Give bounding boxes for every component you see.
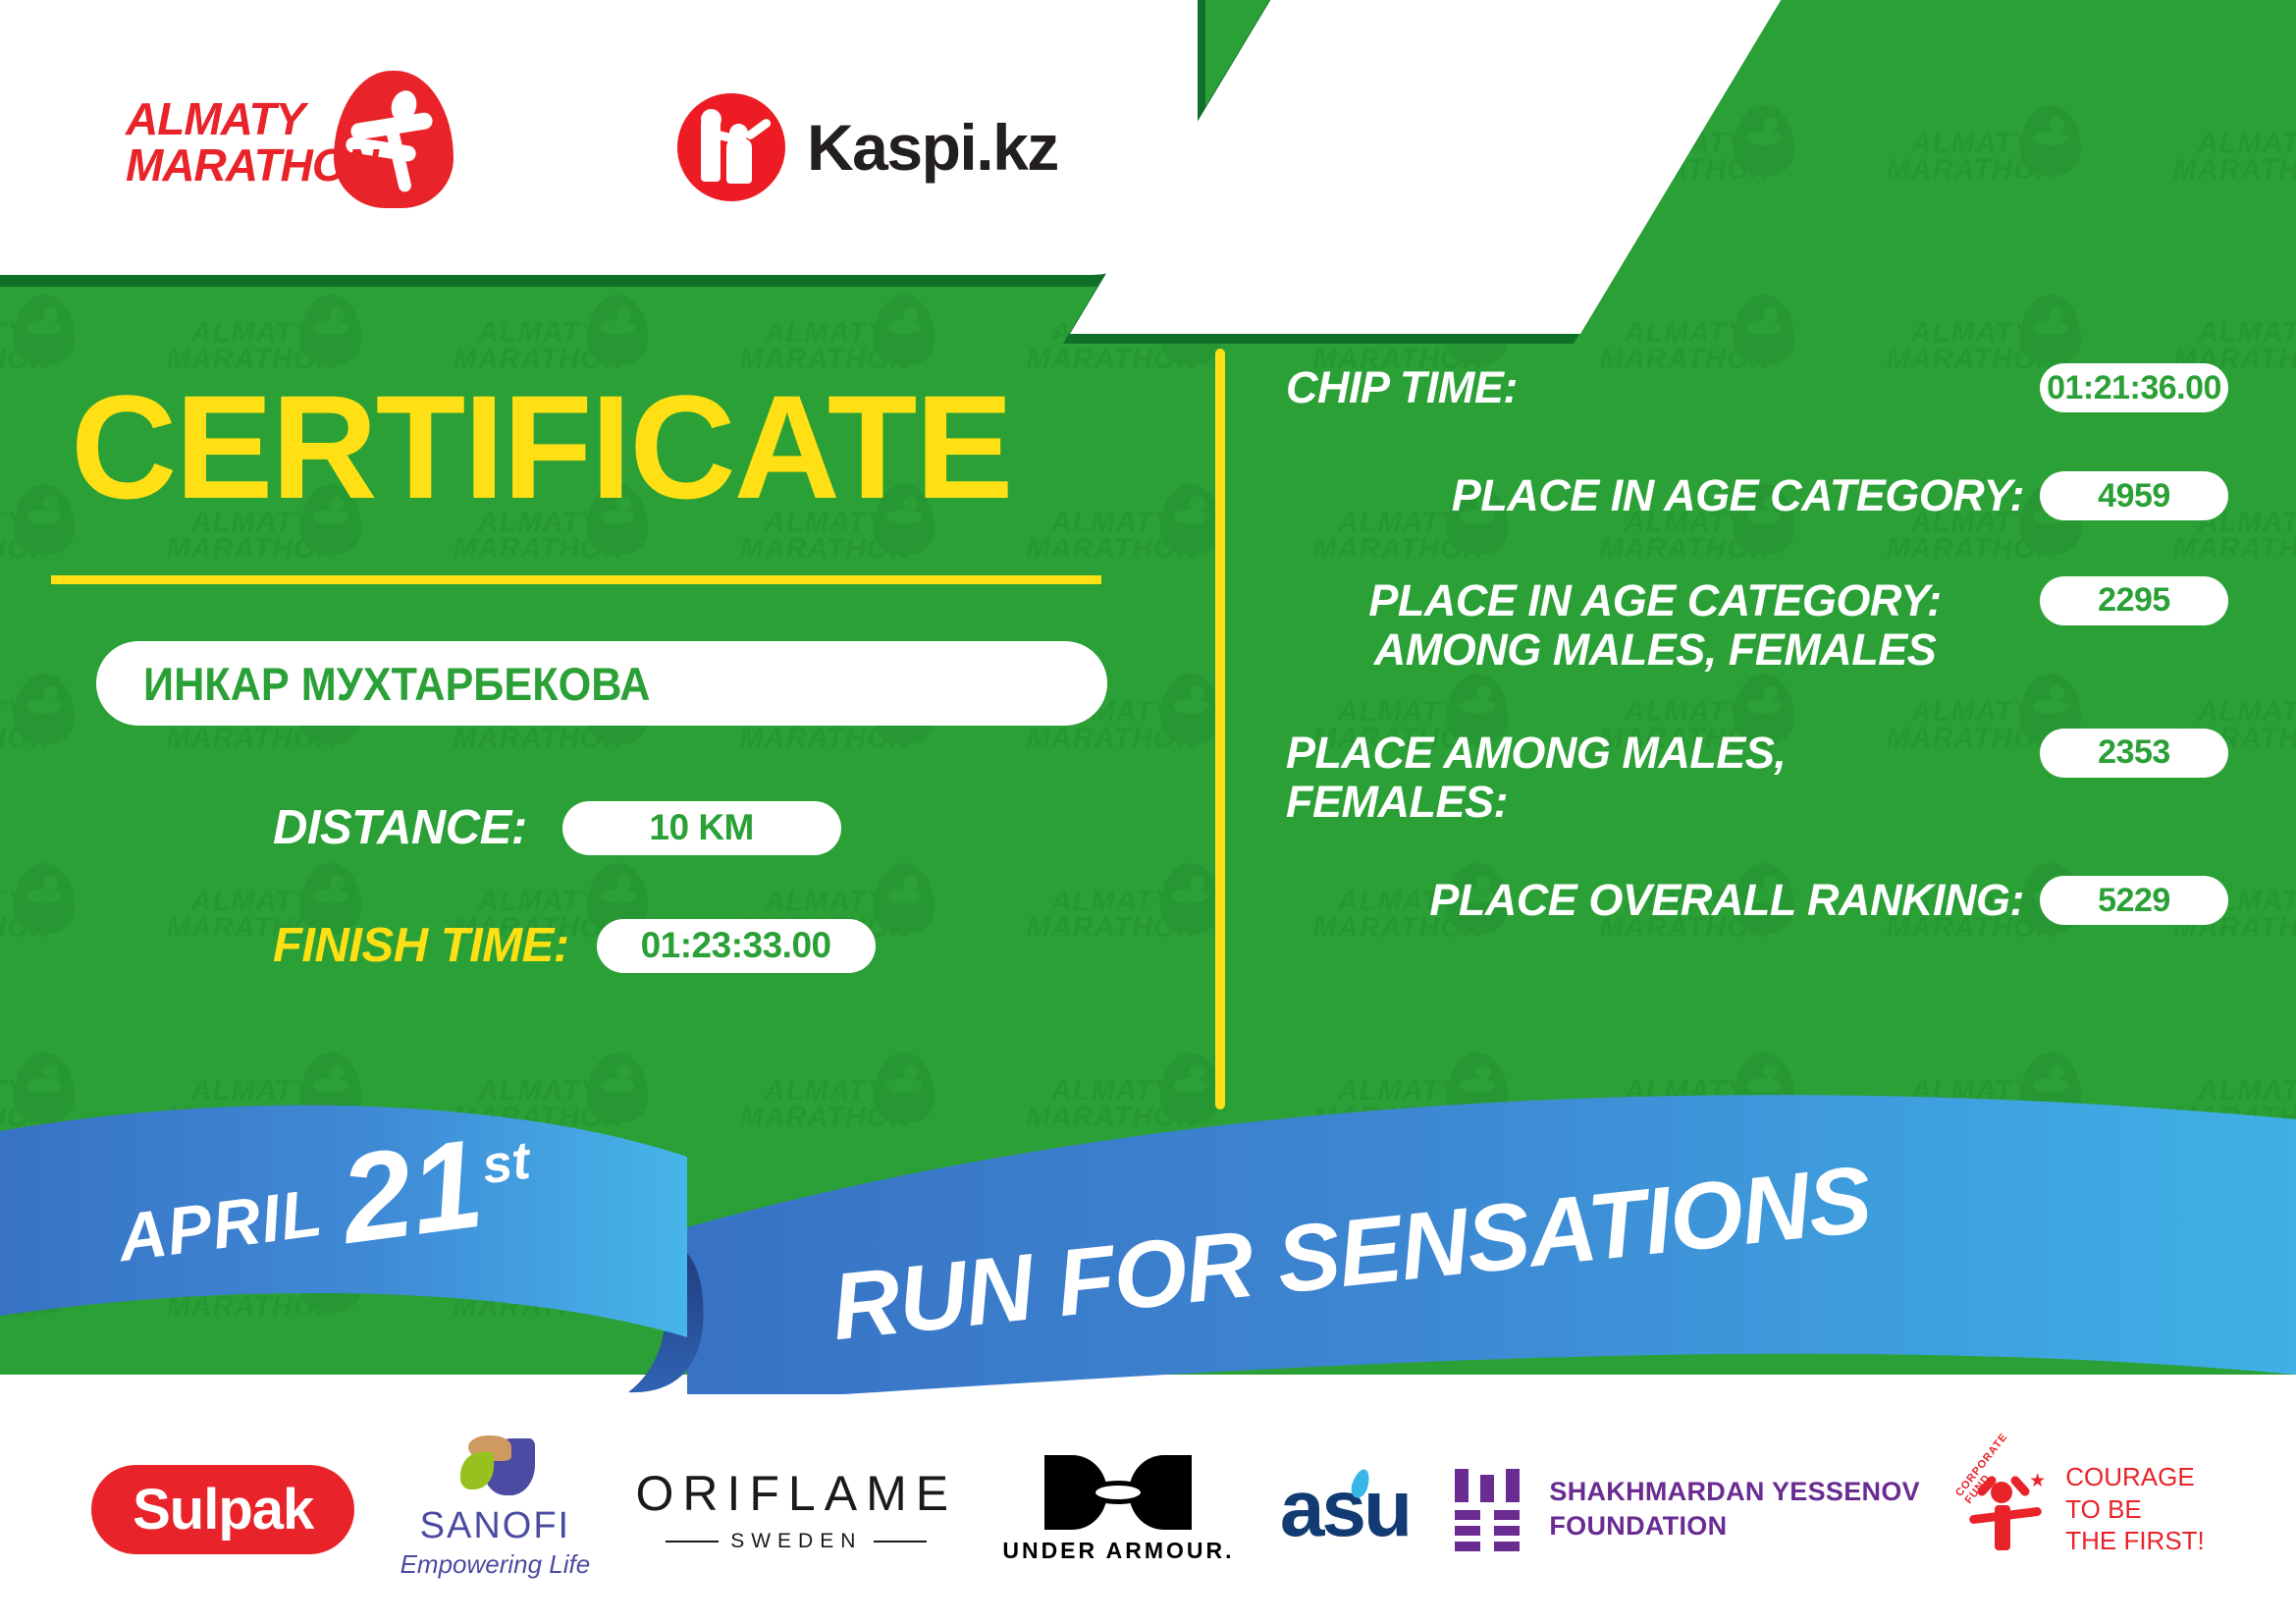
- sanofi-logo: SANOFI Empowering Life: [400, 1438, 591, 1580]
- place-among-gender-label: PLACE AMONG MALES, FEMALES:: [1286, 729, 2024, 828]
- finish-time-value: 01:23:33.00: [597, 919, 876, 973]
- oriflame-name: ORIFLAME: [635, 1465, 957, 1522]
- event-day-suffix: st: [479, 1130, 534, 1197]
- courage-line-2: TO BE: [2065, 1493, 2205, 1526]
- sanofi-tagline: Empowering Life: [400, 1549, 591, 1580]
- label-line-2: FEMALES:: [1286, 778, 2024, 827]
- courage-line-1: COURAGE: [2065, 1461, 2205, 1493]
- sponsor-yessenov-foundation: SHAKHMARDAN YESSENOV FOUNDATION: [1455, 1469, 1920, 1549]
- sanofi-name: SANOFI: [400, 1505, 591, 1547]
- place-age-category-label: PLACE IN AGE CATEGORY:: [1286, 471, 2024, 520]
- sponsor-asu: asu: [1280, 1463, 1410, 1555]
- event-month: APRIL: [114, 1174, 327, 1277]
- watermark-tile: ALMATYMARATHON: [0, 510, 69, 562]
- courage-text: COURAGE TO BE THE FIRST!: [2065, 1461, 2205, 1557]
- watermark-tile: ALMATYMARATHON: [0, 699, 69, 751]
- oriflame-sub: SWEDEN: [730, 1530, 862, 1553]
- courage-child-icon: CORPORATE FUND ★: [1965, 1462, 2050, 1556]
- watermark-tile: ALMATYMARATHON: [1009, 510, 1215, 562]
- distance-value: 10 KM: [562, 801, 841, 855]
- result-row: PLACE IN AGE CATEGORY: 4959: [1286, 471, 2228, 520]
- under-armour-logo: UNDER ARMOUR.: [1002, 1455, 1234, 1564]
- distance-label: DISTANCE:: [273, 800, 527, 855]
- label-line-1: PLACE AMONG MALES,: [1286, 729, 2024, 778]
- watermark-tile: ALMATYMARATHON: [1869, 131, 2075, 183]
- distance-row: DISTANCE: 10 KM: [273, 800, 841, 855]
- sponsor-under-armour: UNDER ARMOUR.: [1002, 1455, 1234, 1564]
- watermark-tile: ALMATYMARATHON: [1009, 889, 1215, 941]
- yessenov-bars-icon: [1455, 1469, 1525, 1549]
- marathon-line: MARATHON: [126, 142, 378, 189]
- courage-line-3: THE FIRST!: [2065, 1525, 2205, 1557]
- label-line-1: PLACE IN AGE CATEGORY:: [1286, 576, 2024, 625]
- star-icon: ★: [2029, 1470, 2046, 1492]
- place-overall-label: PLACE OVERALL RANKING:: [1286, 876, 2024, 925]
- asu-name: asu: [1280, 1464, 1410, 1553]
- watermark-tile: ALMATYMARATHON: [2156, 131, 2296, 183]
- finish-time-row: FINISH TIME: 01:23:33.00: [273, 918, 876, 973]
- kaspi-people-icon: [677, 93, 785, 201]
- oriflame-subline: SWEDEN: [635, 1530, 957, 1553]
- column-divider: [1215, 349, 1225, 1110]
- sulpak-logo: Sulpak: [91, 1465, 354, 1554]
- kaspi-logo: Kaspi.kz: [677, 93, 1058, 201]
- yessenov-name: SHAKHMARDAN YESSENOV FOUNDATION: [1549, 1475, 1920, 1543]
- sponsor-oriflame: ORIFLAME SWEDEN: [635, 1465, 957, 1553]
- sponsor-bar: Sulpak SANOFI Empowering Life ORIFLAME S…: [0, 1394, 2296, 1624]
- event-day: 21: [336, 1130, 488, 1254]
- watermark-tile: ALMATYMARATHON: [0, 889, 69, 941]
- finish-time-label: FINISH TIME:: [273, 918, 569, 973]
- rule-left: [666, 1541, 719, 1543]
- chip-time-value: 01:21:36.00: [2040, 363, 2228, 412]
- asu-logo: asu: [1280, 1463, 1410, 1555]
- result-row: PLACE OVERALL RANKING: 5229: [1286, 876, 2228, 925]
- yessenov-logo: SHAKHMARDAN YESSENOV FOUNDATION: [1455, 1469, 1920, 1549]
- label-line-2: AMONG MALES, FEMALES: [1286, 625, 2024, 675]
- result-row: PLACE IN AGE CATEGORY: AMONG MALES, FEMA…: [1286, 576, 2228, 676]
- courage-logo: CORPORATE FUND ★ COURAGE TO BE THE FIRST…: [1965, 1461, 2205, 1557]
- oriflame-logo: ORIFLAME SWEDEN: [635, 1465, 957, 1553]
- result-row: PLACE AMONG MALES, FEMALES: 2353: [1286, 729, 2228, 828]
- place-overall-value: 5229: [2040, 876, 2228, 925]
- certificate-page: ALMATYMARATHONALMATYMARATHONALMATYMARATH…: [0, 0, 2296, 1624]
- results-list: CHIP TIME: 01:21:36.00 PLACE IN AGE CATE…: [1286, 363, 2228, 971]
- title-divider: [51, 575, 1101, 584]
- under-armour-name: UNDER ARMOUR.: [1002, 1538, 1234, 1564]
- yessenov-line-1: SHAKHMARDAN YESSENOV: [1549, 1475, 1920, 1509]
- sanofi-mark-icon: [449, 1438, 541, 1499]
- sponsor-sanofi: SANOFI Empowering Life: [400, 1438, 591, 1580]
- almaty-marathon-logo-text: ALMATY MARATHON: [126, 96, 378, 189]
- chip-time-label: CHIP TIME:: [1286, 363, 2024, 412]
- place-age-category-gender-label: PLACE IN AGE CATEGORY: AMONG MALES, FEMA…: [1286, 576, 2024, 676]
- place-age-category-value: 4959: [2040, 471, 2228, 520]
- watermark-tile: ALMATYMARATHON: [0, 320, 69, 372]
- participant-name-value: ИНКАР МУХТАРБЕКОВА: [143, 657, 651, 711]
- yessenov-line-2: FOUNDATION: [1549, 1509, 1920, 1543]
- almaty-marathon-logo: ALMATY MARATHON: [126, 59, 450, 226]
- sponsor-courage-to-be-the-first: CORPORATE FUND ★ COURAGE TO BE THE FIRST…: [1965, 1461, 2205, 1557]
- place-age-category-gender-value: 2295: [2040, 576, 2228, 625]
- almaty-line: ALMATY: [126, 96, 378, 142]
- kaspi-logo-text: Kaspi.kz: [807, 110, 1058, 185]
- rule-right: [874, 1541, 927, 1543]
- participant-name-field: ИНКАР МУХТАРБЕКОВА: [96, 641, 1107, 726]
- page-title: CERTIFICATE: [71, 373, 1012, 520]
- result-row: CHIP TIME: 01:21:36.00: [1286, 363, 2228, 412]
- place-among-gender-value: 2353: [2040, 729, 2228, 778]
- under-armour-icon: [1044, 1455, 1192, 1530]
- sponsor-sulpak: Sulpak: [91, 1465, 354, 1554]
